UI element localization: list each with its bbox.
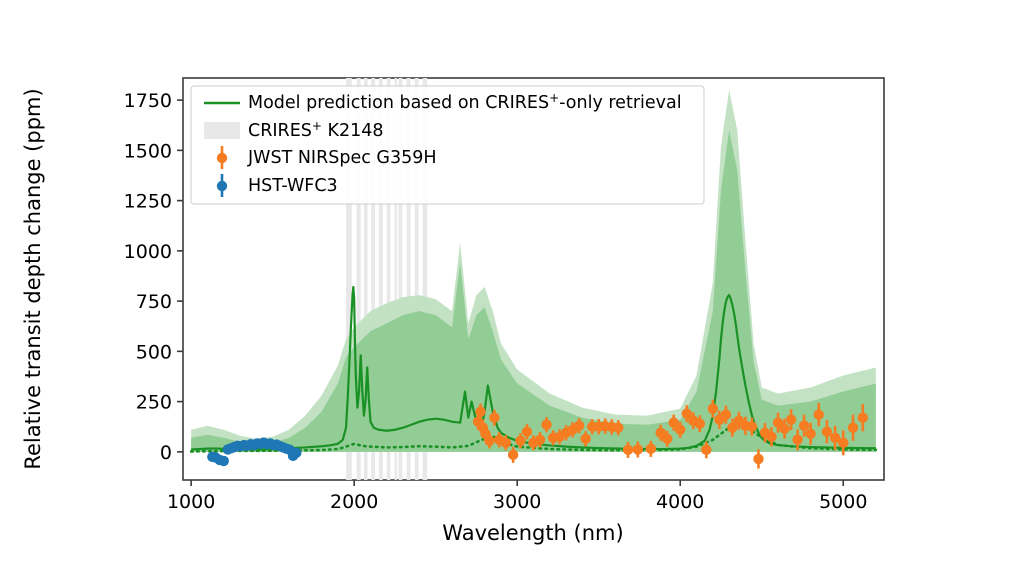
data-point [701,445,711,455]
x-tick-label: 4000 [656,491,704,513]
y-tick-label: 250 [136,392,172,414]
data-point [501,438,511,448]
data-point [805,429,815,439]
x-tick-label: 5000 [819,491,867,513]
data-point [291,448,301,458]
data-point [792,435,802,445]
y-tick-label: 750 [136,291,172,313]
data-point [814,409,824,419]
data-point [623,445,633,455]
y-tick-label: 1750 [124,90,172,112]
data-point [484,436,494,446]
data-point [753,454,763,464]
legend-label-0: Model prediction based on CRIRES+-only r… [248,91,682,113]
y-tick-label: 1000 [124,241,172,263]
data-point [541,420,551,430]
legend-label-2: JWST NIRSpec G359H [247,148,437,168]
data-point [613,423,623,433]
data-point [695,419,705,429]
y-axis-label: Relative transit depth change (ppm) [21,88,45,469]
data-point [858,412,868,422]
data-point [799,421,809,431]
y-tick-label: 1250 [124,191,172,213]
data-point [848,423,858,433]
data-point [219,456,229,466]
data-point [675,425,685,435]
data-point [580,434,590,444]
data-point [535,435,545,445]
data-point [766,432,776,442]
data-point [475,406,485,416]
data-point [646,444,656,454]
legend-marker-swatch [217,181,227,191]
x-tick-label: 1000 [167,491,215,513]
data-point [779,424,789,434]
data-point [522,427,532,437]
data-point [721,409,731,419]
y-tick-label: 0 [160,442,172,464]
data-point [489,412,499,422]
x-axis-label: Wavelength (nm) [442,521,623,545]
y-tick-label: 1500 [124,140,172,162]
data-point [633,444,643,454]
data-point [747,422,757,432]
legend-marker-swatch [217,153,227,163]
figure-container: 10002000300040005000 0250500750100012501… [0,0,1024,572]
data-point [515,436,525,446]
data-point [708,403,718,413]
legend-label-3: HST-WFC3 [248,176,338,196]
data-point [662,434,672,444]
transit-spectrum-chart: 10002000300040005000 0250500750100012501… [0,0,1024,572]
x-tick-label: 3000 [493,491,541,513]
y-tick-label: 500 [136,341,172,363]
chart-legend: Model prediction based on CRIRES+-only r… [191,86,704,204]
data-point [838,438,848,448]
data-point [786,415,796,425]
x-tick-label: 2000 [330,491,378,513]
legend-patch-swatch [204,122,240,139]
data-point [574,421,584,431]
data-point [508,450,518,460]
